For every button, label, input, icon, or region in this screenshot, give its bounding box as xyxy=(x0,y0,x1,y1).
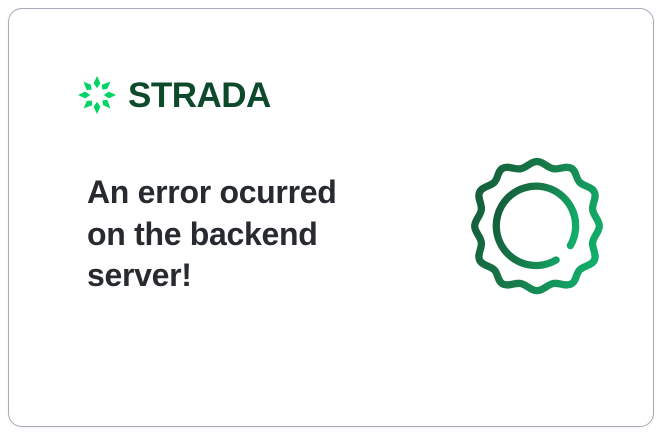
error-card: STRADA An error ocurred on the backend s… xyxy=(8,8,654,427)
brand-lockup: STRADA xyxy=(77,75,271,115)
strada-starburst-icon xyxy=(77,75,117,115)
error-screen: STRADA An error ocurred on the backend s… xyxy=(0,0,666,436)
brand-wordmark: STRADA xyxy=(128,78,271,113)
error-headline: An error ocurred on the backend server! xyxy=(87,172,387,297)
